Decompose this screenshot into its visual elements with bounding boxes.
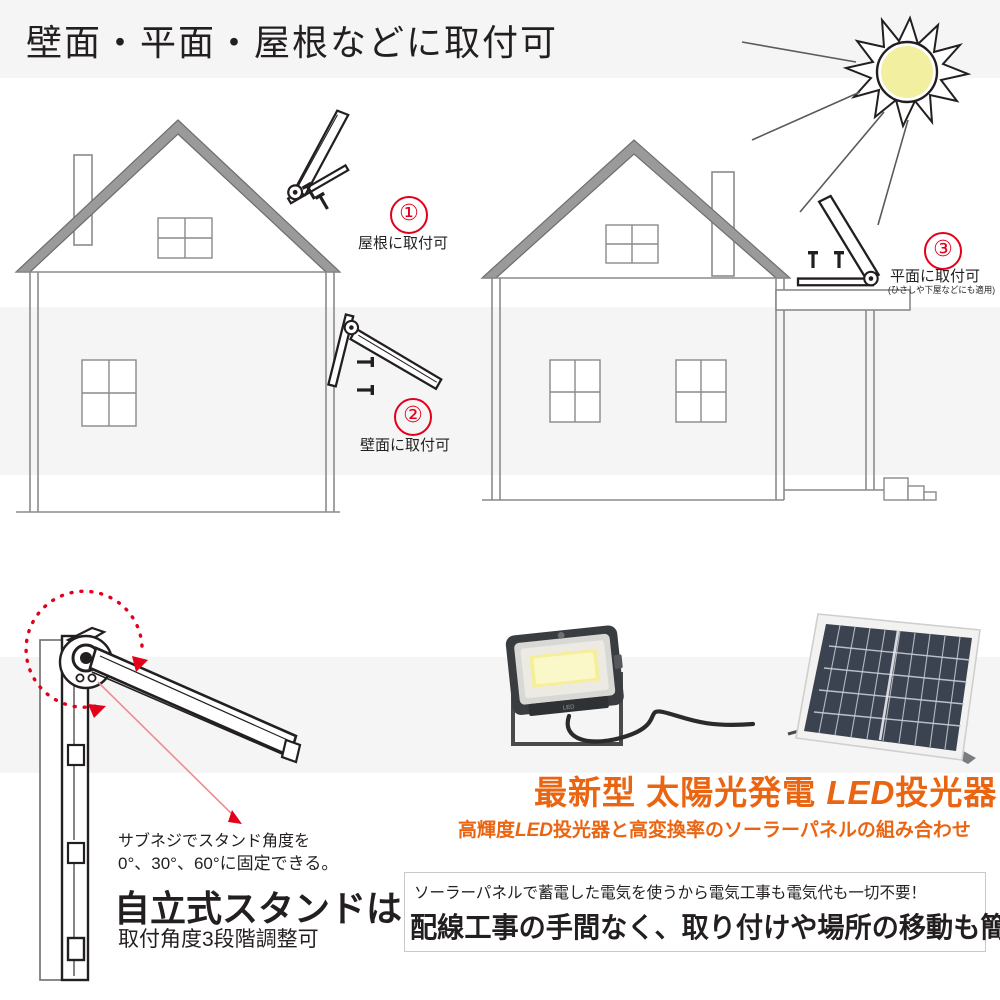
mounting-bracket-icon-flat (798, 196, 879, 285)
solar-panel-product-image (780, 588, 990, 768)
claim-line-1: ソーラーパネルで蓄電した電気を使うから電気工事も電気代も一切不要！ (414, 879, 926, 903)
mounting-bracket-icon-roof (262, 107, 372, 203)
product-title-led: LED (826, 774, 895, 811)
callout-label-wall: 壁面に取付可 (360, 434, 450, 455)
callout-number-1: ① (390, 196, 428, 234)
product-title-tail: 投光器 (895, 774, 997, 811)
sun-icon (742, 18, 968, 225)
screw-icon-flat-1 (808, 251, 818, 268)
infographic-page: 壁面・平面・屋根などに取付可 (0, 0, 1000, 1000)
product-subtitle-led: LED (515, 820, 553, 841)
screw-icon-roof-2 (315, 192, 332, 212)
house-icon-right (482, 140, 936, 500)
product-subtitle: 高輝度LED投光器と高変換率のソーラーパネルの組み合わせ (458, 815, 971, 842)
product-subtitle-tail: 投光器と高変換率のソーラーパネルの組み合わせ (553, 820, 971, 841)
stand-note-line-1: サブネジでスタンド角度を (118, 827, 310, 851)
screw-icon-flat-2 (834, 251, 844, 268)
screw-icon-wall-1 (357, 357, 374, 367)
claim-line-2: 配線工事の手間なく、取り付けや場所の移動も簡単 (410, 906, 1000, 946)
callout-label-roof: 屋根に取付可 (358, 232, 448, 253)
mounting-bracket-icon-wall (328, 314, 451, 410)
product-title-main: 最新型 太陽光発電 (534, 774, 826, 811)
callout-number-2: ② (394, 398, 432, 436)
callout-subnote-flat: (ひさしや下屋などにも適用) (888, 283, 995, 296)
screw-icon-wall-2 (357, 385, 374, 395)
floodlight-product-image: LED (495, 612, 755, 762)
stand-subline: 取付角度3段階調整可 (118, 923, 319, 953)
stand-note-line-2: 0°、30°、60°に固定できる。 (118, 849, 338, 874)
house-icon-left (16, 120, 340, 512)
product-title: 最新型 太陽光発電 LED投光器 (534, 766, 997, 814)
product-subtitle-lead: 高輝度 (458, 820, 515, 841)
svg-text:LED: LED (563, 704, 576, 711)
